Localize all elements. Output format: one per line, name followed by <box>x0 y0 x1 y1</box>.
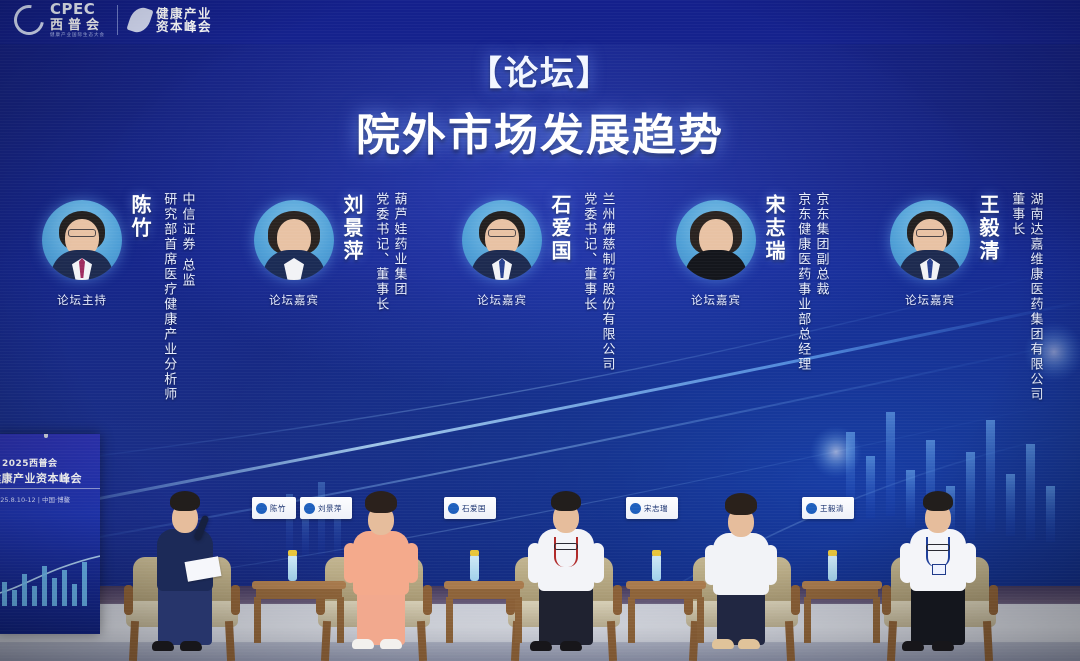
placard-name-3: 宋志瑞 <box>644 503 668 514</box>
placard-4: 王毅清 <box>802 497 854 519</box>
placard-logo-icon <box>304 503 315 514</box>
speaker-title-4-0: 湖南达嘉维康医药集团有限公司 <box>1026 192 1042 402</box>
conference-stage-photo: CPEC 西普会 健康产业国际生态大会 健康产业 资本峰会 【论坛】 院外市场发… <box>0 0 1080 661</box>
panelist-chen-zhu <box>150 485 220 645</box>
logo-group: CPEC 西普会 健康产业国际生态大会 健康产业 资本峰会 <box>14 2 212 39</box>
side-table-3 <box>626 581 706 645</box>
leaf-icon <box>126 5 153 36</box>
title-line-2: 院外市场发展趋势 <box>0 99 1080 163</box>
logo-divider <box>117 5 118 35</box>
speaker-role-3: 论坛嘉宾 <box>673 292 759 308</box>
speaker-title-0-1: 研究部首席医疗健康产业分析师 <box>160 192 176 402</box>
placard-1: 刘景萍 <box>300 497 352 519</box>
speaker-title-3-1: 京东健康医药事业部总经理 <box>794 192 810 372</box>
cpec-logo: CPEC 西普会 健康产业国际生态大会 <box>14 2 105 39</box>
summit-logo-line1: 健康产业 <box>156 7 212 21</box>
speaker-name-2: 石爱国 <box>546 194 575 263</box>
speaker-role-4: 论坛嘉宾 <box>887 292 973 308</box>
speaker-strip: 论坛主持 陈竹 中信证券 总监 研究部首席医疗健康产业分析师 论坛嘉宾 刘景萍 … <box>0 186 1080 436</box>
side-table-4 <box>802 581 882 645</box>
speaker-role-2: 论坛嘉宾 <box>459 292 545 308</box>
water-bottle-3 <box>652 555 661 581</box>
rollup-banner: 2025西普会 健康产业资本峰会 2025.8.10-12 | 中国·博鳌 <box>0 434 100 634</box>
banner-chart-graphic <box>0 548 100 608</box>
speaker-titles-3: 京东集团副总裁 京东健康医药事业部总经理 <box>792 192 829 372</box>
portrait-chen-zhu <box>42 200 122 280</box>
speaker-card-3: 论坛嘉宾 宋志瑞 京东集团副总裁 京东健康医药事业部总经理 <box>676 186 829 372</box>
placard-name-4: 王毅清 <box>820 503 844 514</box>
panelist-wang-yiqing <box>902 487 974 645</box>
placard-0: 陈竹 <box>252 497 296 519</box>
portrait-liu-jingping <box>254 200 334 280</box>
placard-name-2: 石爱国 <box>462 503 486 514</box>
forum-title: 【论坛】 院外市场发展趋势 <box>0 46 1080 163</box>
placard-3: 宋志瑞 <box>626 497 678 519</box>
speaker-title-2-1: 党委书记、董事长 <box>580 192 596 372</box>
speaker-title-1-0: 葫芦娃药业集团 <box>390 192 406 312</box>
portrait-shi-aiguo <box>462 200 542 280</box>
placard-logo-icon <box>630 503 641 514</box>
banner-line-1: 2025西普会 <box>2 456 58 469</box>
banner-line-3: 2025.8.10-12 | 中国·博鳌 <box>0 494 70 504</box>
cpec-logo-cn: 西普会 <box>50 19 105 32</box>
side-table-1 <box>252 581 346 645</box>
placard-2: 石爱国 <box>444 497 496 519</box>
banner-divider <box>0 488 100 489</box>
placard-logo-icon <box>806 503 817 514</box>
speaker-titles-2: 兰州佛慈制药股份有限公司 党委书记、董事长 <box>578 192 615 372</box>
water-bottle-1 <box>288 555 297 581</box>
speaker-name-4: 王毅清 <box>974 194 1003 263</box>
speaker-title-2-0: 兰州佛慈制药股份有限公司 <box>598 192 614 372</box>
speaker-title-1-1: 党委书记、董事长 <box>372 192 388 312</box>
banner-pole <box>44 434 48 438</box>
speaker-titles-1: 葫芦娃药业集团 党委书记、董事长 <box>370 192 407 312</box>
placard-name-0: 陈竹 <box>270 503 286 514</box>
speaker-title-0-0: 中信证券 总监 <box>178 192 194 402</box>
cpec-logo-sub: 健康产业国际生态大会 <box>50 34 105 39</box>
panelist-song-zhirui <box>706 489 776 645</box>
portrait-song-zhirui <box>676 200 756 280</box>
speaker-name-1: 刘景萍 <box>338 194 367 263</box>
speaker-card-1: 论坛嘉宾 刘景萍 葫芦娃药业集团 党委书记、董事长 <box>254 186 407 312</box>
speaker-titles-4: 湖南达嘉维康医药集团有限公司 董事长 <box>1006 192 1043 402</box>
speaker-title-3-0: 京东集团副总裁 <box>812 192 828 372</box>
speaker-role-0: 论坛主持 <box>39 292 125 308</box>
placard-name-1: 刘景萍 <box>318 503 342 514</box>
banner-line-2: 健康产业资本峰会 <box>0 470 82 486</box>
title-line-1: 【论坛】 <box>0 46 1080 95</box>
summit-logo-line2: 资本峰会 <box>156 20 212 34</box>
speaker-name-3: 宋志瑞 <box>760 194 789 263</box>
cpec-circle-icon <box>8 0 50 41</box>
speaker-card-4: 论坛嘉宾 王毅清 湖南达嘉维康医药集团有限公司 董事长 <box>890 186 1043 402</box>
cpec-logo-en: CPEC <box>50 2 105 17</box>
health-capital-summit-logo: 健康产业 资本峰会 <box>130 7 212 34</box>
portrait-wang-yiqing <box>890 200 970 280</box>
water-bottle-4 <box>828 555 837 581</box>
panelist-liu-jingping <box>346 487 416 645</box>
speaker-title-4-1: 董事长 <box>1008 192 1024 402</box>
speaker-role-1: 论坛嘉宾 <box>251 292 337 308</box>
speaker-titles-0: 中信证券 总监 研究部首席医疗健康产业分析师 <box>158 192 195 402</box>
placard-logo-icon <box>256 503 267 514</box>
speaker-card-0: 论坛主持 陈竹 中信证券 总监 研究部首席医疗健康产业分析师 <box>42 186 195 402</box>
side-table-2 <box>444 581 524 645</box>
panelist-shi-aiguo <box>530 485 602 645</box>
water-bottle-2 <box>470 555 479 581</box>
placard-logo-icon <box>448 503 459 514</box>
speaker-card-2: 论坛嘉宾 石爱国 兰州佛慈制药股份有限公司 党委书记、董事长 <box>462 186 615 372</box>
speaker-name-0: 陈竹 <box>126 194 155 240</box>
